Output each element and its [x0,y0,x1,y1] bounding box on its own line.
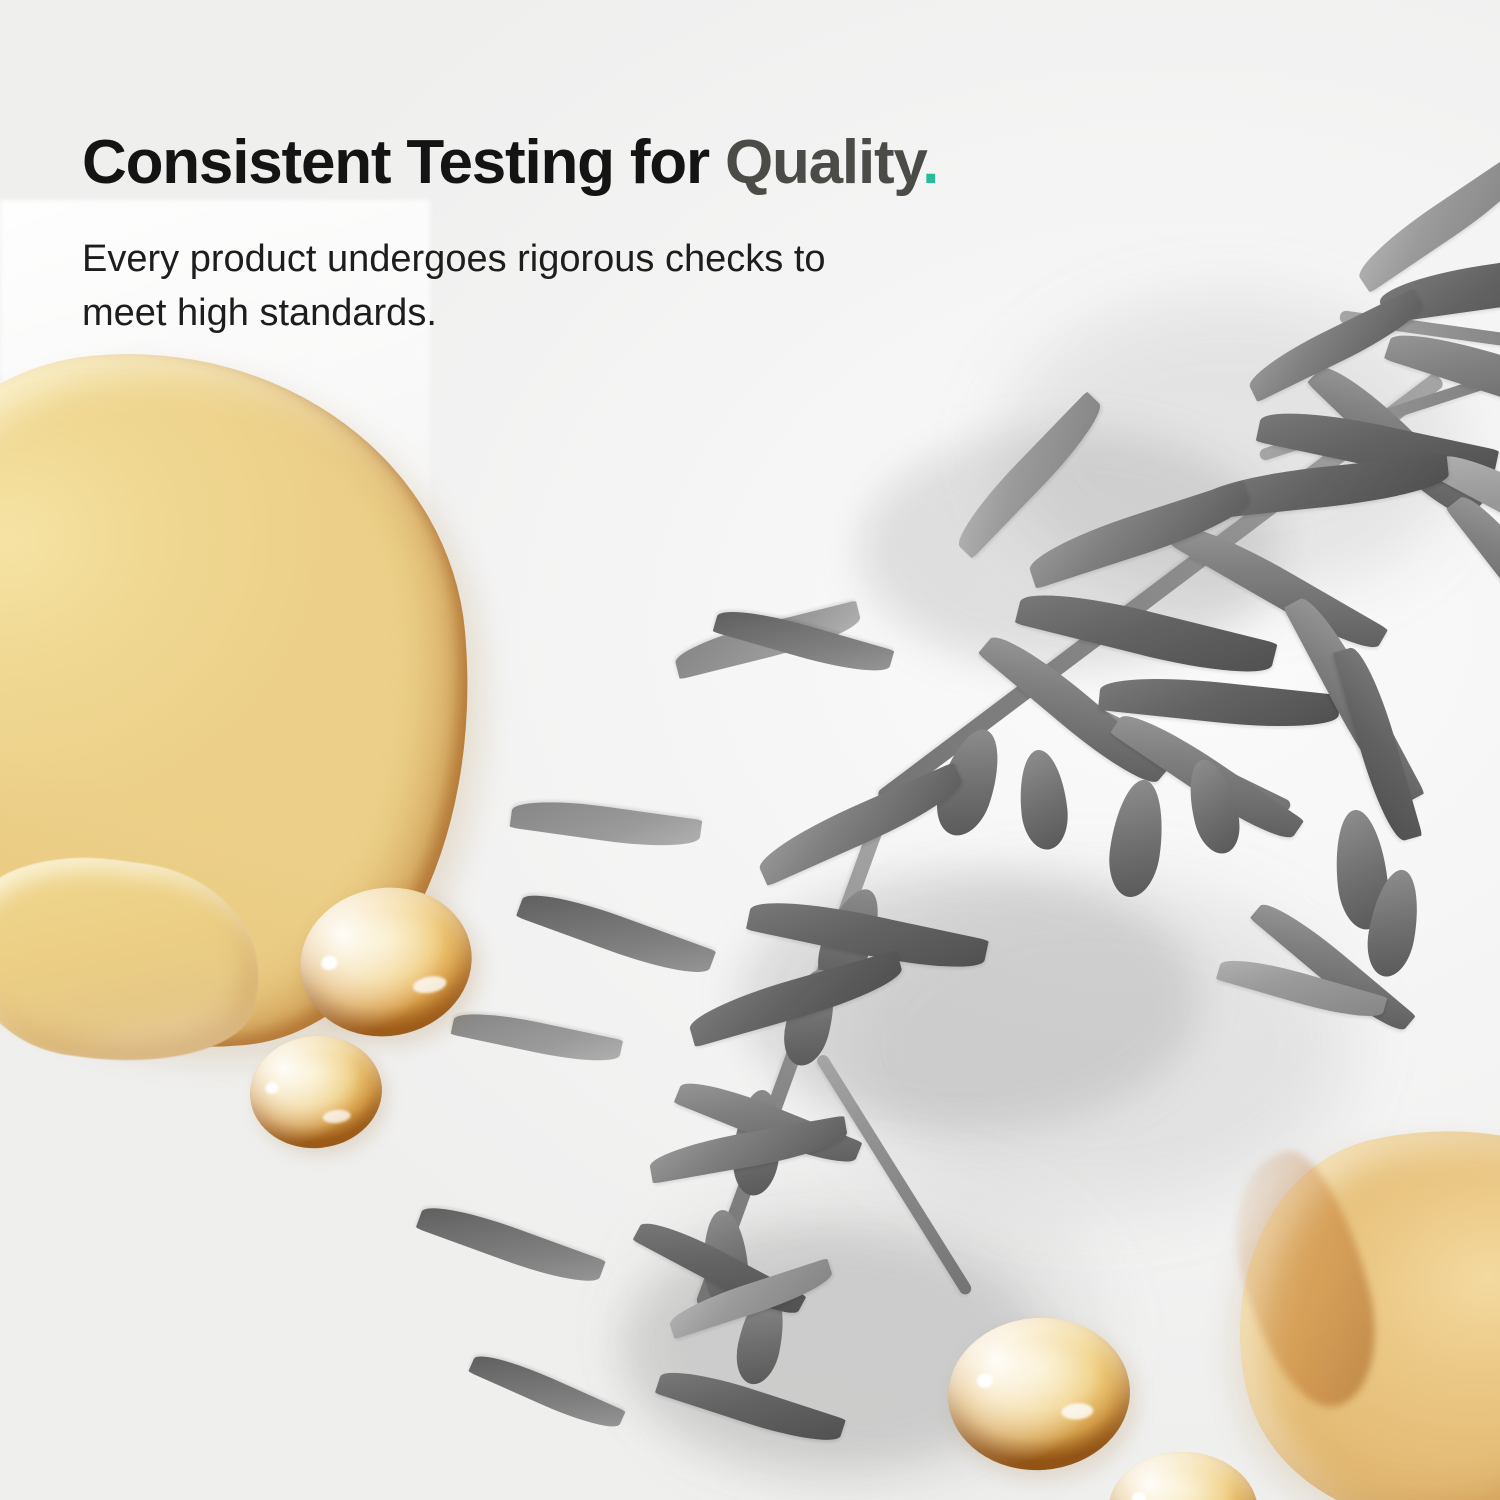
headline-lead: Consistent Testing for [82,128,725,197]
page-title: Consistent Testing for Quality. [82,130,1412,197]
flower-bud [1104,777,1170,901]
subtitle-line-2: meet high standards. [82,292,437,334]
headline-accent-word: Quality [725,128,922,197]
page-subtitle: Every product undergoes rigorous checks … [82,233,982,341]
promotional-banner: Consistent Testing for Quality. Every pr… [0,0,1500,1500]
leaf [1446,487,1500,667]
subtitle-line-1: Every product undergoes rigorous checks … [82,238,826,280]
text-block: Consistent Testing for Quality. Every pr… [82,130,1412,341]
headline-accent-dot: . [922,128,938,197]
flower-bud [1015,748,1071,852]
droplet-highlight [1132,1492,1146,1500]
